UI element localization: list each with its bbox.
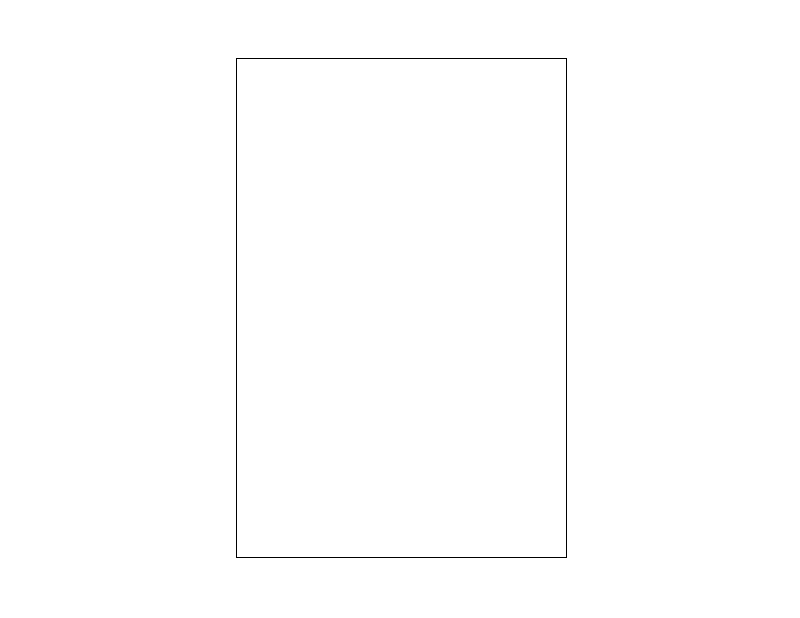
map-frame bbox=[236, 58, 567, 558]
colorbar bbox=[671, 62, 800, 562]
map-plot-area bbox=[236, 58, 567, 558]
country-borders-overlay bbox=[237, 59, 567, 558]
